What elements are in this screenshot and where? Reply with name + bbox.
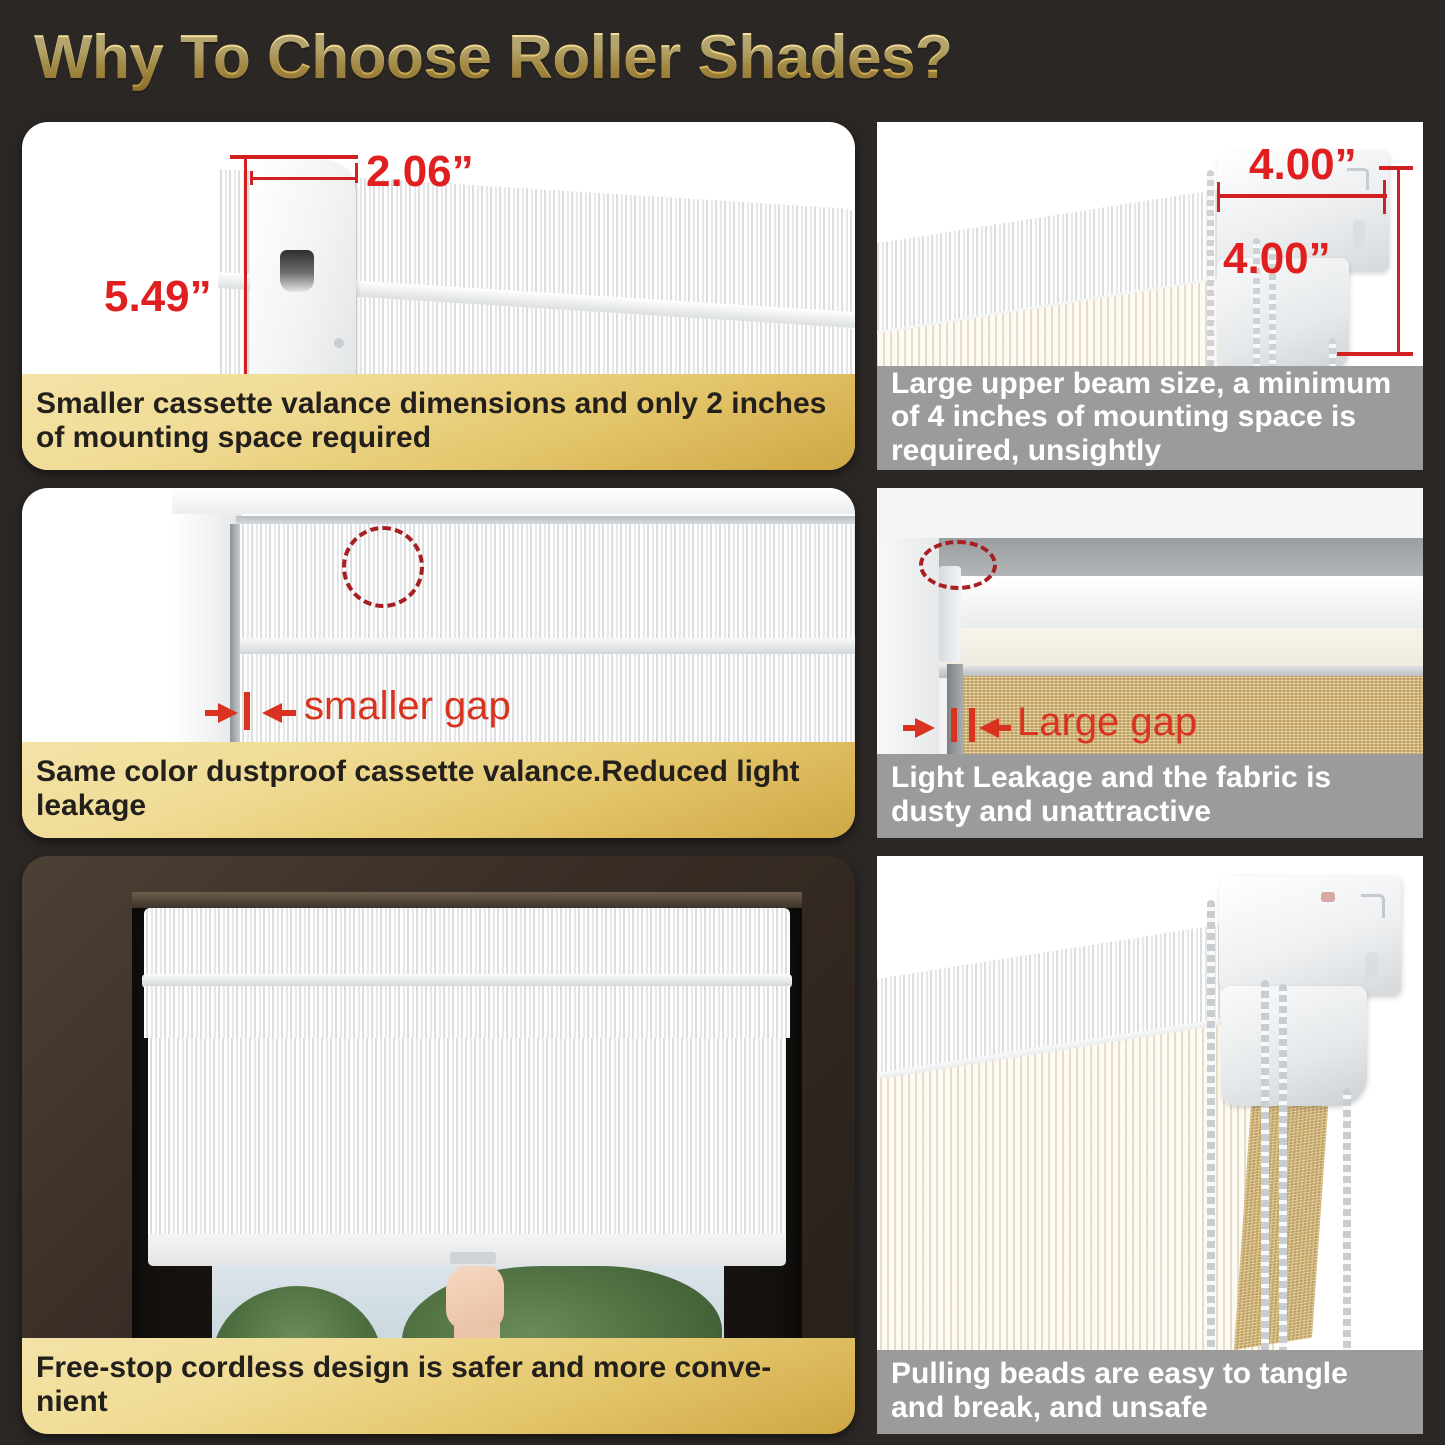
gap-tick-a [951,708,957,742]
gap-arrow-left-stem [205,710,221,716]
panel-5-caption: Free-stop cordless design is safer and m… [22,1338,855,1434]
panel-6-photo [877,856,1423,1434]
height-dimension-label: 5.49” [104,272,212,322]
end-cap-screw [334,338,344,348]
panel-grid: 2.06” 5.49” Smaller cassette valance dim… [0,112,1445,1445]
bracket-slot [1353,220,1365,248]
window-header [132,892,802,908]
gap-arrow-right [262,703,282,723]
valance-face [240,524,855,640]
cassette-valance [144,908,790,984]
panel-6-caption-text: Pulling beads are easy to tangle and bre… [877,1349,1423,1434]
panel-1-caption: Smaller cassette valance dimensions and … [22,374,855,470]
panel-3-caption: Same color dustproof cassette valance.Re… [22,742,855,838]
window-frame-top [172,488,855,514]
panel-smaller-cassette: 2.06” 5.49” Smaller cassette valance dim… [22,122,855,470]
gap-arrow-left [218,703,238,723]
hand [446,1264,504,1330]
panel-2-caption: Large upper beam size, a minimum of 4 in… [877,366,1423,470]
panel-6-caption: Pulling beads are easy to tangle and bre… [877,1350,1423,1434]
height-dim-tick-top [230,155,260,159]
width-dim-tick-right [355,163,358,183]
panel-3-caption-text: Same color dustproof cassette valance.Re… [22,747,855,832]
width-dimension-label: 2.06” [366,147,474,197]
gap-tick-b [969,708,975,742]
panel-large-upper-beam: 4.00” 4.00” Large upper beam size, a min… [877,122,1423,470]
height-dim-line [1397,168,1400,356]
infographic-page: Why To Choose Roller Shades? [0,0,1445,1445]
bracket-marker [1321,892,1335,902]
bead-chain-2 [1261,980,1269,1392]
valance-roll [144,986,790,1038]
panel-1-caption-text: Smaller cassette valance dimensions and … [22,379,855,464]
panel-4-caption-text: Light Leakage and the fabric is dusty an… [877,753,1423,838]
bead-chain-1 [1207,900,1215,1390]
wall-upper [877,488,1423,538]
panel-light-leakage: Large gap Light Leakage and the fabric i… [877,488,1423,838]
bracket-slot [1365,952,1378,982]
title-bar: Why To Choose Roller Shades? [0,0,1445,112]
gap-arrow-right [979,718,999,738]
end-cap-slot [280,250,314,292]
bracket-notch-upper [1361,894,1385,918]
panel-dustproof-valance: smaller gap Same color dustproof cassett… [22,488,855,838]
width-dimension-label: 4.00” [1249,140,1357,190]
width-dim-line [1217,194,1387,198]
gap-arrow-right-stem [280,710,296,716]
width-dim-tick-right [1383,180,1386,214]
roller-tube-white [937,576,1423,632]
bead-chain-4 [1343,1088,1351,1388]
gap-label: smaller gap [304,684,511,729]
panel-2-caption-text: Large upper beam size, a minimum of 4 in… [877,359,1423,470]
panel-4-caption: Light Leakage and the fabric is dusty an… [877,754,1423,838]
shade-fabric-main [148,1038,786,1260]
height-dim-tick-top [1379,166,1413,170]
pull-tab [450,1252,496,1264]
gap-arrow-left [915,718,935,738]
panel-5-caption-text: Free-stop cordless design is safer and m… [22,1343,855,1428]
gap-arrow-left-stem [903,725,917,731]
height-dim-tick-bottom [1337,352,1413,356]
panel-cordless-design: Free-stop cordless design is safer and m… [22,856,855,1434]
highlight-circle [342,526,424,608]
page-title: Why To Choose Roller Shades? [34,22,952,93]
bead-chain-3 [1279,984,1287,1390]
width-dim-arrow-line [250,177,358,180]
gap-arrow-right-stem [997,725,1011,731]
gap-label: Large gap [1017,700,1197,745]
height-dimension-label: 4.00” [1223,234,1331,284]
highlight-circle [919,540,997,590]
gap-tick [244,692,250,730]
panel-pulling-beads: Pulling beads are easy to tangle and bre… [877,856,1423,1434]
width-dim-top-line [250,155,358,159]
